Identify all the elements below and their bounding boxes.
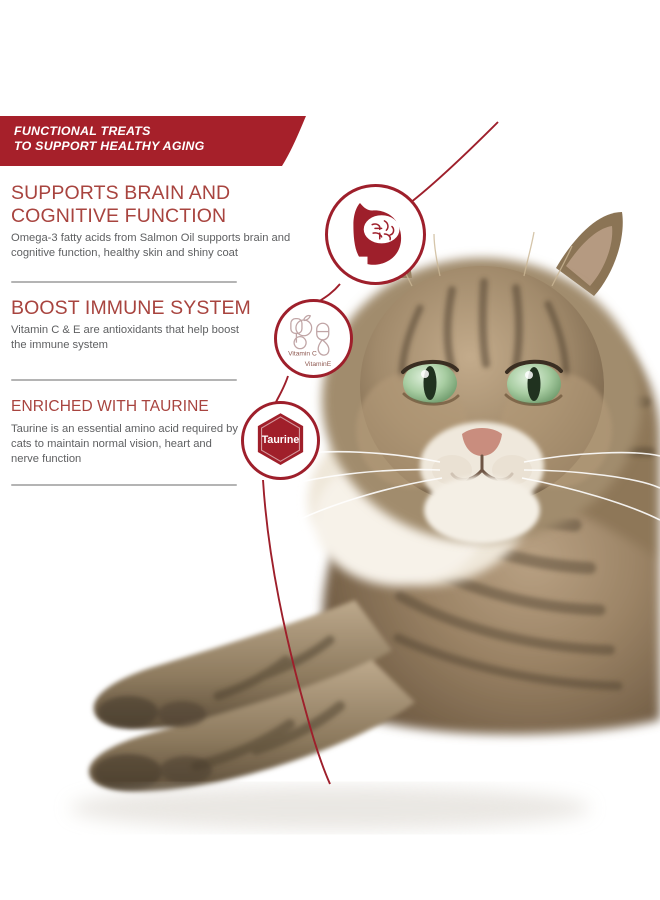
feature-body-immune: Vitamin C & E are antioxidants that help…: [11, 323, 243, 353]
feature-block-immune: BOOST IMMUNE SYSTEM Vitamin C & E are an…: [11, 297, 251, 353]
infographic-canvas: FUNCTIONAL TREATS TO SUPPORT HEALTHY AGI…: [0, 0, 660, 900]
banner-line-2: TO SUPPORT HEALTHY AGING: [14, 139, 304, 154]
feature-block-taurine: ENRICHED WITH TAURINE Taurine is an esse…: [11, 397, 239, 468]
taurine-label: Taurine: [262, 434, 300, 446]
vitamin-icon: Vitamin C VitaminE: [274, 299, 353, 378]
banner-line-1: FUNCTIONAL TREATS: [14, 124, 304, 139]
taurine-icon: Taurine: [241, 401, 320, 480]
divider-3: [11, 484, 237, 486]
feature-body-taurine: Taurine is an essential amino acid requi…: [11, 422, 239, 468]
divider-1: [11, 281, 237, 283]
feature-title-brain-line2: COGNITIVE FUNCTION: [11, 205, 317, 228]
vitamin-e-label: VitaminE: [305, 361, 332, 368]
feature-title-brain: SUPPORTS BRAIN AND COGNITIVE FUNCTION: [11, 182, 317, 228]
feature-title-brain-line1: SUPPORTS BRAIN AND: [11, 182, 317, 205]
feature-block-brain: SUPPORTS BRAIN AND COGNITIVE FUNCTION Om…: [11, 182, 317, 261]
feature-body-brain: Omega-3 fatty acids from Salmon Oil supp…: [11, 231, 317, 261]
divider-2: [11, 379, 237, 381]
feature-title-immune: BOOST IMMUNE SYSTEM: [11, 297, 251, 320]
feature-title-taurine: ENRICHED WITH TAURINE: [11, 397, 239, 416]
vitamin-c-label: Vitamin C: [288, 351, 317, 358]
banner-text: FUNCTIONAL TREATS TO SUPPORT HEALTHY AGI…: [14, 124, 304, 153]
cat-brain-icon: [325, 184, 426, 285]
